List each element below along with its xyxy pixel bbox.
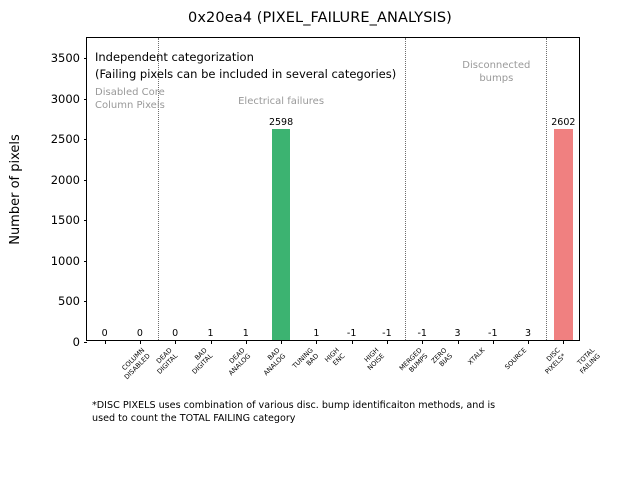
- bar-value-label: -1: [417, 328, 426, 339]
- bar-value-label: 0: [102, 328, 108, 339]
- y-axis-tick-mark: [84, 99, 88, 100]
- group-separator: [158, 38, 159, 340]
- group-annotation-label: Electrical failures: [238, 96, 324, 109]
- x-axis-tick-mark: [246, 340, 247, 344]
- x-axis-tick-label: HIGHNOISE: [361, 347, 386, 372]
- y-axis-tick-mark: [84, 139, 88, 140]
- x-axis-tick-label: BADANALOG: [257, 347, 288, 378]
- plot-axes: 0001125981-1-1-13-132602Independent cate…: [86, 37, 580, 341]
- y-axis-tick-mark: [84, 58, 88, 59]
- x-axis-tick-label: XTALK: [466, 347, 486, 367]
- y-axis-tick-mark: [84, 180, 88, 181]
- bar-value-label: 0: [137, 328, 143, 339]
- bar: [272, 129, 290, 340]
- headline-note: (Failing pixels can be included in sever…: [95, 67, 396, 81]
- bar-value-label: 3: [525, 328, 531, 339]
- bar-value-label: 1: [207, 328, 213, 339]
- x-axis-tick-label-line: SOURCE: [504, 347, 529, 372]
- x-axis-tick-label: TUNINGBAD: [292, 347, 321, 376]
- bar: [554, 129, 572, 340]
- group-annotation-line: Disabled Core: [95, 87, 165, 100]
- y-axis-tick-mark: [84, 261, 88, 262]
- footnote-line-1: *DISC PIXELS uses combination of various…: [92, 400, 572, 413]
- y-axis-tick-label: 0: [73, 335, 80, 349]
- y-axis-tick-label: 1500: [51, 213, 80, 227]
- group-annotation-line: Electrical failures: [238, 96, 324, 109]
- group-separator: [546, 38, 547, 340]
- x-axis-tick-label: DEADDIGITAL: [150, 347, 179, 376]
- x-axis-tick-mark: [105, 340, 106, 344]
- x-axis-tick-label: BADDIGITAL: [186, 347, 215, 376]
- x-axis-tick-label: MERGEDBUMPS: [398, 347, 429, 378]
- x-axis-tick-label: COLUMNDISABLED: [117, 347, 152, 382]
- group-annotation-label: Disconnectedbumps: [462, 60, 530, 86]
- x-axis-tick-label: ZEROBIAS: [431, 347, 455, 371]
- y-axis-tick-label: 1000: [51, 254, 80, 268]
- bar-value-label: 1: [243, 328, 249, 339]
- group-annotation-line: Disconnected: [462, 60, 530, 73]
- x-axis-tick-label-line: XTALK: [466, 347, 486, 367]
- y-axis-tick-label: 3500: [51, 51, 80, 65]
- y-axis-tick-label: 500: [58, 294, 80, 308]
- bar-value-label: 3: [454, 328, 460, 339]
- footnote-line-2: used to count the TOTAL FAILING category: [92, 413, 572, 426]
- x-axis-tick-mark: [281, 340, 282, 344]
- x-axis-tick-label: DISCPIXELS*: [539, 347, 568, 376]
- plot-area: 0001125981-1-1-13-132602Independent cate…: [87, 38, 579, 340]
- x-axis-tick-mark: [563, 340, 564, 344]
- x-axis-tick-mark: [175, 340, 176, 344]
- bar-value-label: -1: [382, 328, 391, 339]
- x-axis-tick-mark: [316, 340, 317, 344]
- x-axis-tick-mark: [458, 340, 459, 344]
- x-axis-tick-mark: [352, 340, 353, 344]
- bar-value-label: -1: [347, 328, 356, 339]
- y-axis-label: Number of pixels: [6, 37, 24, 341]
- chart-title: 0x20ea4 (PIXEL_FAILURE_ANALYSIS): [0, 10, 640, 26]
- bar-value-label: 1: [313, 328, 319, 339]
- x-axis-tick-mark: [387, 340, 388, 344]
- x-axis-tick-mark: [140, 340, 141, 344]
- y-axis-tick-label: 2500: [51, 132, 80, 146]
- bar-value-label: 2602: [551, 117, 575, 128]
- group-annotation-line: Column Pixels: [95, 100, 165, 113]
- x-axis-tick-mark: [493, 340, 494, 344]
- headline-note: Independent categorization: [95, 50, 254, 64]
- y-axis-tick-label: 3000: [51, 92, 80, 106]
- y-axis-tick-mark: [84, 301, 88, 302]
- bar-value-label: -1: [488, 328, 497, 339]
- x-axis-tick-label: SOURCE: [504, 347, 529, 372]
- y-axis-label-text: Number of pixels: [8, 134, 23, 245]
- bar-value-label: 0: [172, 328, 178, 339]
- bar-value-label: 2598: [269, 117, 293, 128]
- y-axis-tick-mark: [84, 220, 88, 221]
- group-annotation-label: Disabled CoreColumn Pixels: [95, 87, 165, 113]
- group-separator: [405, 38, 406, 340]
- figure: 0x20ea4 (PIXEL_FAILURE_ANALYSIS) Number …: [0, 0, 640, 480]
- footnote: *DISC PIXELS uses combination of various…: [92, 400, 572, 425]
- x-axis-tick-mark: [211, 340, 212, 344]
- x-axis-tick-mark: [422, 340, 423, 344]
- y-axis-tick-label: 2000: [51, 173, 80, 187]
- x-axis-tick-mark: [528, 340, 529, 344]
- y-axis-tick-mark: [84, 342, 88, 343]
- x-axis-tick-label: DEADANALOG: [222, 347, 253, 378]
- x-axis-tick-label: HIGHENC: [324, 347, 347, 370]
- group-annotation-line: bumps: [462, 73, 530, 86]
- x-axis-tick-label: TOTALFAILING: [574, 347, 603, 376]
